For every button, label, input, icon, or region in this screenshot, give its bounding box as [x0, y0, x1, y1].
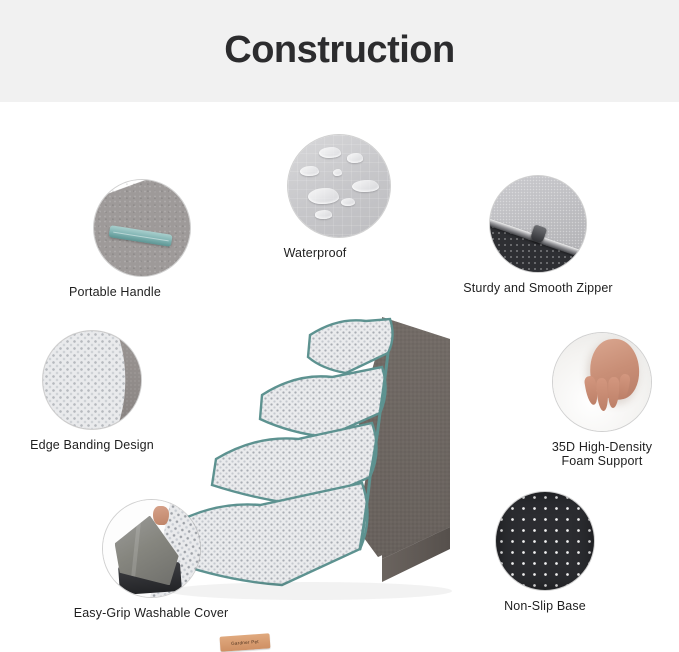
infographic-stage: Gardner Pet Portable Handle — [0, 102, 679, 627]
hand-press-foam-icon — [553, 333, 651, 431]
dotted-base-icon — [496, 492, 594, 590]
feature-label-waterproof: Waterproof — [264, 246, 366, 260]
water-droplets-icon — [288, 135, 390, 237]
feature-label-portable-handle: Portable Handle — [67, 285, 163, 299]
handle-strap-icon — [94, 180, 190, 276]
header-band: Construction — [0, 0, 679, 102]
product-brand-tag: Gardner Pet — [220, 633, 271, 651]
feature-sturdy-zipper: Sturdy and Smooth Zipper — [490, 176, 653, 295]
feature-portable-handle: Portable Handle — [94, 180, 190, 299]
feature-non-slip-base: Non-Slip Base — [496, 492, 625, 613]
feature-label-foam-support: 35D High-Density Foam Support — [527, 440, 677, 468]
feature-waterproof: Waterproof — [288, 135, 390, 260]
feature-label-sturdy-zipper: Sturdy and Smooth Zipper — [423, 281, 653, 295]
zipper-icon — [490, 176, 586, 272]
feature-foam-support: 35D High-Density Foam Support — [553, 333, 677, 468]
feature-edge-banding: Edge Banding Design — [43, 331, 182, 452]
page-title: Construction — [0, 29, 679, 72]
feature-label-edge-banding: Edge Banding Design — [2, 438, 182, 452]
lift-cover-icon — [103, 500, 200, 597]
feature-label-non-slip-base: Non-Slip Base — [465, 599, 625, 613]
feature-label-easy-grip-cover: Easy-Grip Washable Cover — [36, 606, 266, 620]
feature-easy-grip-cover: Easy-Grip Washable Cover — [103, 500, 266, 620]
edge-seam-icon — [43, 331, 141, 429]
